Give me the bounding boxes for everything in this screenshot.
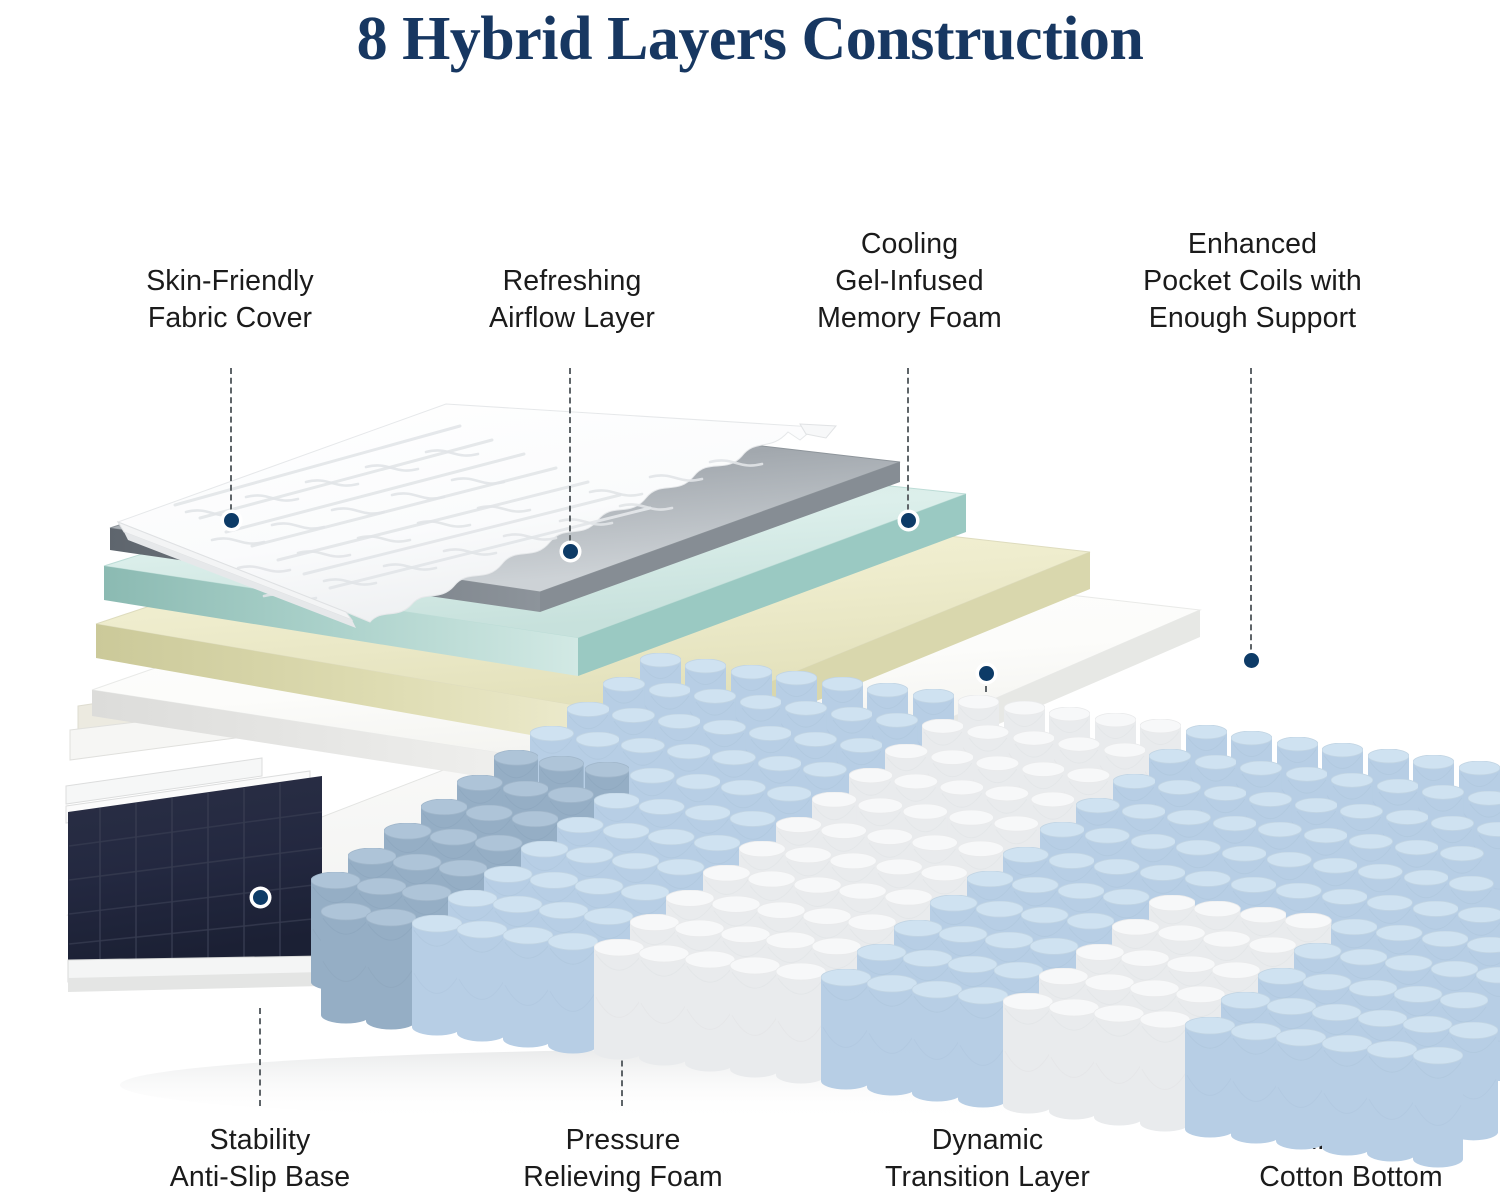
pocket-coil — [1276, 1029, 1326, 1158]
pocket-coil — [1322, 1035, 1372, 1164]
pocket-coil — [821, 969, 871, 1098]
infographic-canvas: 8 Hybrid Layers Construction — [0, 0, 1500, 1200]
leader-line-skin-friendly-fabric-cover — [230, 368, 232, 520]
callout-dot-refreshing-airflow-layer — [563, 544, 578, 559]
callout-dot-dynamic-transition-layer — [979, 666, 994, 681]
pocket-coil — [548, 933, 598, 1062]
callout-dot-enhanced-pocket-coils — [1244, 653, 1259, 668]
pocket-coil — [321, 903, 371, 1032]
pocket-coil — [1413, 1047, 1463, 1176]
mattress-cutaway-illustration — [0, 0, 1500, 1200]
callout-dot-skin-friendly-fabric-cover — [224, 513, 239, 528]
callout-dot-cooling-gel-infused-memory-foam — [901, 513, 916, 528]
callout-label-enhanced-pocket-coils: Enhanced Pocket Coils with Enough Suppor… — [1105, 226, 1400, 337]
pocket-coil — [1140, 1011, 1190, 1140]
pocket-coil — [776, 963, 826, 1092]
pocket-coil — [412, 915, 462, 1044]
pocket-coil — [912, 981, 962, 1110]
leader-line-cooling-gel-infused-memory-foam — [907, 368, 909, 520]
pocket-coil — [503, 927, 553, 1056]
leader-line-stability-anti-slip-base — [259, 1008, 261, 1106]
pocket-coil — [457, 921, 507, 1050]
pocket-coil — [1094, 1005, 1144, 1134]
callout-label-cooling-gel-infused-memory-foam: Cooling Gel-Infused Memory Foam — [772, 226, 1047, 337]
pocket-coil — [730, 957, 780, 1086]
pocket-coil — [639, 945, 689, 1074]
callout-label-skin-friendly-fabric-cover: Skin-Friendly Fabric Cover — [95, 263, 365, 337]
pocket-coil — [594, 939, 644, 1068]
pocket-coil — [1003, 993, 1053, 1122]
callout-dot-stability-anti-slip-base — [253, 890, 268, 905]
pocket-coil — [1367, 1041, 1417, 1170]
leader-line-enhanced-pocket-coils — [1250, 368, 1252, 660]
pocket-coil — [958, 987, 1008, 1116]
callout-label-stability-anti-slip-base: Stability Anti-Slip Base — [125, 1122, 395, 1196]
pocket-coil — [1049, 999, 1099, 1128]
callout-label-dynamic-transition-layer: Dynamic Transition Layer — [850, 1122, 1125, 1196]
pocket-coil — [366, 909, 416, 1038]
callout-label-pressure-relieving-foam: Pressure Relieving Foam — [487, 1122, 759, 1196]
leader-line-refreshing-airflow-layer — [569, 368, 571, 551]
callout-label-refreshing-airflow-layer: Refreshing Airflow Layer — [437, 263, 707, 337]
pocket-coil — [685, 951, 735, 1080]
pocket-coil — [867, 975, 917, 1104]
pocket-coil — [1231, 1023, 1281, 1152]
pocket-coil — [1185, 1017, 1235, 1146]
pocket-coils-group — [0, 0, 1500, 1200]
